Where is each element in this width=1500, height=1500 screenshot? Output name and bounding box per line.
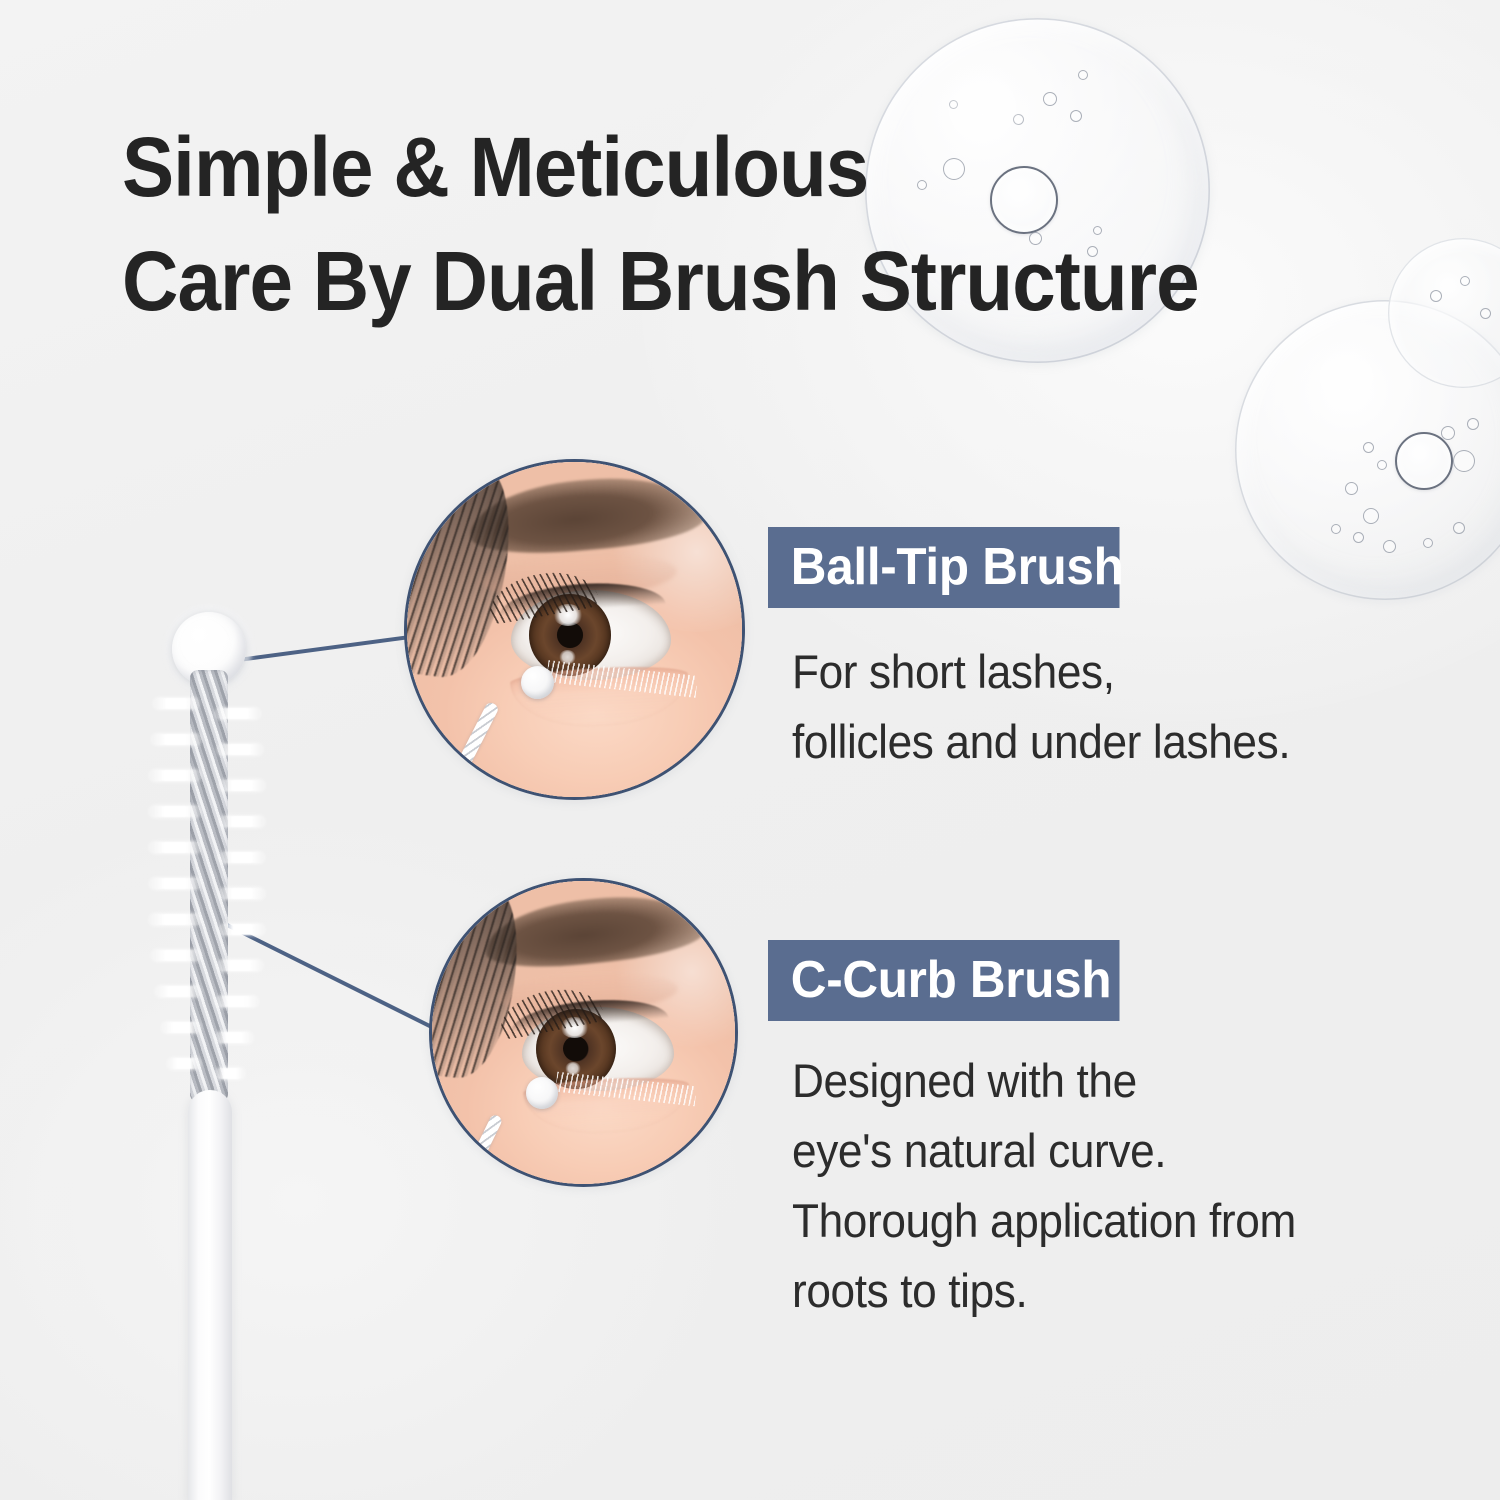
specular-highlight <box>1281 330 1411 424</box>
feature-photo-ball-tip <box>404 459 745 800</box>
bristle <box>220 780 264 791</box>
bubble-icon <box>1078 70 1088 80</box>
bristle <box>152 950 200 961</box>
bubble-icon <box>1363 442 1374 453</box>
bristle <box>220 816 264 827</box>
bubble-icon <box>1467 418 1479 430</box>
feature-badge-ball-tip: Ball-Tip Brush <box>768 527 1120 608</box>
bristle <box>150 770 200 781</box>
bristle <box>216 708 260 719</box>
feature-description-ball-tip: For short lashes, follicles and under la… <box>792 637 1337 777</box>
bubble-ring-icon <box>1395 432 1453 490</box>
brush-handle <box>188 1090 232 1500</box>
bubble-icon <box>1345 482 1358 495</box>
page-title: Simple & Meticulous Care By Dual Brush S… <box>122 110 1219 338</box>
bubble-icon <box>1460 276 1470 286</box>
bubble-icon <box>1377 460 1387 470</box>
bristle <box>218 744 262 755</box>
bubble-icon <box>1430 290 1442 302</box>
feature-photo-c-curb <box>429 878 738 1187</box>
applicator-ball-tip <box>526 1077 558 1109</box>
bubble-icon <box>1331 524 1341 534</box>
bubble-icon <box>1363 508 1379 524</box>
bristle <box>218 960 262 971</box>
bristle <box>162 1022 200 1033</box>
feature-badge-c-curb: C-Curb Brush <box>768 940 1120 1021</box>
bristle <box>220 888 264 899</box>
bristle <box>150 914 200 925</box>
bristle <box>216 1032 252 1043</box>
bristle <box>156 986 200 997</box>
bubble-icon <box>1423 538 1433 548</box>
bristle <box>150 806 200 817</box>
bubble-icon <box>1480 308 1491 319</box>
dual-brush-applicator <box>150 612 330 1500</box>
bubble-icon <box>1353 532 1364 543</box>
infographic-canvas: Simple & Meticulous Care By Dual Brush S… <box>0 0 1500 1500</box>
bubble-icon <box>1453 450 1475 472</box>
bristle <box>150 842 200 853</box>
bristle <box>216 1068 244 1079</box>
bubble-icon <box>1453 522 1465 534</box>
bristle <box>154 698 198 709</box>
feature-description-c-curb: Designed with the eye's natural curve. T… <box>792 1046 1356 1326</box>
bristle <box>150 878 200 889</box>
pupil <box>563 1036 588 1061</box>
bubble-icon <box>1441 426 1455 440</box>
bristle <box>168 1058 200 1069</box>
bristle <box>220 852 264 863</box>
bubble-icon <box>1383 540 1396 553</box>
applicator-ball-tip <box>521 666 554 699</box>
bristle <box>216 996 258 1007</box>
bristle <box>220 924 264 935</box>
bristle <box>152 734 200 745</box>
